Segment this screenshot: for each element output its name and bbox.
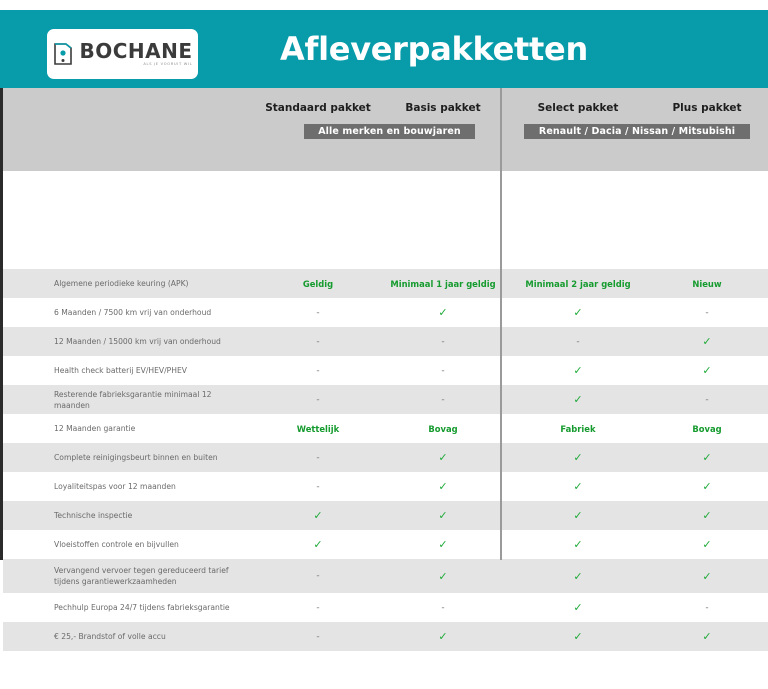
row-cell-c1: - xyxy=(248,571,388,581)
row-cell-c4: ✓ xyxy=(648,509,766,522)
row-cell-c4: ✓ xyxy=(648,335,766,348)
table-row: Vervangend vervoer tegen gereduceerd tar… xyxy=(3,559,768,593)
table-footer-space xyxy=(3,651,768,689)
row-label: Vloeistoffen controle en bijvullen xyxy=(54,539,249,550)
row-cell-c4: - xyxy=(648,395,766,405)
row-cell-c2: ✓ xyxy=(388,630,498,643)
table-row: Algemene periodieke keuring (APK)GeldigM… xyxy=(3,269,768,298)
table-row: Pechhulp Europa 24/7 tijdens fabrieksgar… xyxy=(3,593,768,622)
row-cell-c1: - xyxy=(248,482,388,492)
afleverpakketten-page: Afleverpakketten BOCHANE ALS JE VOORUIT … xyxy=(0,0,768,576)
row-cell-c3: ✓ xyxy=(508,306,648,319)
row-cell-c3: ✓ xyxy=(508,601,648,614)
row-cell-c1: ✓ xyxy=(248,538,388,551)
row-cell-c1: - xyxy=(248,337,388,347)
row-label: Loyaliteitspas voor 12 maanden xyxy=(54,481,249,492)
comparison-table: Standaard pakket Basis pakket Select pak… xyxy=(0,88,768,560)
column-header-standaard: Standaard pakket xyxy=(248,102,388,114)
row-cell-c1: - xyxy=(248,308,388,318)
row-cell-c4: ✓ xyxy=(648,570,766,583)
table-row: 6 Maanden / 7500 km vrij van onderhoud-✓… xyxy=(3,298,768,327)
table-row: 12 Maanden garantieWettelijkBovagFabriek… xyxy=(3,414,768,443)
column-group-divider xyxy=(500,88,502,560)
row-cell-c3: ✓ xyxy=(508,480,648,493)
table-row: Resterende fabrieksgarantie minimaal 12 … xyxy=(3,385,768,414)
row-cell-c3: ✓ xyxy=(508,393,648,406)
table-row: Loyaliteitspas voor 12 maanden-✓✓✓ xyxy=(3,472,768,501)
table-row: 12 Maanden / 15000 km vrij van onderhoud… xyxy=(3,327,768,356)
row-cell-c2: - xyxy=(388,366,498,376)
row-cell-c4: Bovag xyxy=(648,424,766,434)
row-cell-c2: Bovag xyxy=(388,424,498,434)
row-label: Vervangend vervoer tegen gereduceerd tar… xyxy=(54,565,249,587)
bochane-logo: BOCHANE ALS JE VOORUIT WIL xyxy=(47,29,198,79)
row-cell-c2: ✓ xyxy=(388,509,498,522)
table-row: Complete reinigingsbeurt binnen en buite… xyxy=(3,443,768,472)
row-cell-c1: - xyxy=(248,395,388,405)
row-cell-c2: - xyxy=(388,603,498,613)
row-cell-c1: - xyxy=(248,632,388,642)
row-cell-c3: ✓ xyxy=(508,364,648,377)
row-cell-c2: - xyxy=(388,337,498,347)
feature-rows: Algemene periodieke keuring (APK)GeldigM… xyxy=(3,184,768,689)
column-headers: Standaard pakket Basis pakket Select pak… xyxy=(3,102,768,118)
table-row: Technische inspectie✓✓✓✓ xyxy=(3,501,768,530)
row-label: Pechhulp Europa 24/7 tijdens fabrieksgar… xyxy=(54,602,249,613)
row-label: Technische inspectie xyxy=(54,510,249,521)
row-cell-c2: ✓ xyxy=(388,306,498,319)
table-row: Vloeistoffen controle en bijvullen✓✓✓✓ xyxy=(3,530,768,559)
row-cell-c1: Geldig xyxy=(248,279,388,289)
row-cell-c3: ✓ xyxy=(508,630,648,643)
header-spacer-4 xyxy=(3,235,768,252)
row-cell-c3: ✓ xyxy=(508,538,648,551)
row-cell-c1: ✓ xyxy=(248,509,388,522)
row-label: Resterende fabrieksgarantie minimaal 12 … xyxy=(54,389,249,411)
row-label: 6 Maanden / 7500 km vrij van onderhoud xyxy=(54,307,249,318)
row-label: € 25,- Brandstof of volle accu xyxy=(54,631,249,642)
row-cell-c3: - xyxy=(508,337,648,347)
table-row: Health check batterij EV/HEV/PHEV--✓✓ xyxy=(3,356,768,385)
row-cell-c4: ✓ xyxy=(648,630,766,643)
header-spacer-3 xyxy=(3,218,768,235)
row-cell-c4: - xyxy=(648,603,766,613)
table-row: € 25,- Brandstof of volle accu-✓✓✓ xyxy=(3,622,768,651)
row-cell-c2: ✓ xyxy=(388,480,498,493)
row-cell-c3: ✓ xyxy=(508,509,648,522)
bochane-mark-icon xyxy=(52,40,74,68)
row-cell-c4: ✓ xyxy=(648,480,766,493)
row-cell-c1: - xyxy=(248,366,388,376)
row-cell-c4: ✓ xyxy=(648,451,766,464)
row-cell-c1: - xyxy=(248,603,388,613)
brand-bar-renault-groep: Renault / Dacia / Nissan / Mitsubishi xyxy=(524,124,750,139)
row-cell-c2: ✓ xyxy=(388,570,498,583)
row-cell-c4: ✓ xyxy=(648,538,766,551)
column-header-select: Select pakket xyxy=(508,102,648,114)
brand-bar-alle-merken: Alle merken en bouwjaren xyxy=(304,124,475,139)
row-cell-c2: ✓ xyxy=(388,451,498,464)
header-spacer xyxy=(3,184,768,201)
column-header-basis: Basis pakket xyxy=(388,102,498,114)
row-label: Complete reinigingsbeurt binnen en buite… xyxy=(54,452,249,463)
row-cell-c2: ✓ xyxy=(388,538,498,551)
row-label: Algemene periodieke keuring (APK) xyxy=(54,278,249,289)
logo-tagline: ALS JE VOORUIT WIL xyxy=(143,63,192,67)
header-spacer-2 xyxy=(3,201,768,218)
logo-wordmark: BOCHANE xyxy=(79,41,192,61)
row-cell-c1: Wettelijk xyxy=(248,424,388,434)
row-cell-c3: Fabriek xyxy=(508,424,648,434)
column-header-plus: Plus pakket xyxy=(648,102,766,114)
row-cell-c4: Nieuw xyxy=(648,279,766,289)
row-label: 12 Maanden garantie xyxy=(54,423,249,434)
row-cell-c3: Minimaal 2 jaar geldig xyxy=(508,279,648,289)
header-spacer-5 xyxy=(3,252,768,269)
row-cell-c2: - xyxy=(388,395,498,405)
row-cell-c4: - xyxy=(648,308,766,318)
row-cell-c4: ✓ xyxy=(648,364,766,377)
row-cell-c2: Minimaal 1 jaar geldig xyxy=(388,279,498,289)
row-cell-c3: ✓ xyxy=(508,570,648,583)
row-cell-c1: - xyxy=(248,453,388,463)
row-cell-c3: ✓ xyxy=(508,451,648,464)
row-label: Health check batterij EV/HEV/PHEV xyxy=(54,365,249,376)
row-label: 12 Maanden / 15000 km vrij van onderhoud xyxy=(54,336,249,347)
